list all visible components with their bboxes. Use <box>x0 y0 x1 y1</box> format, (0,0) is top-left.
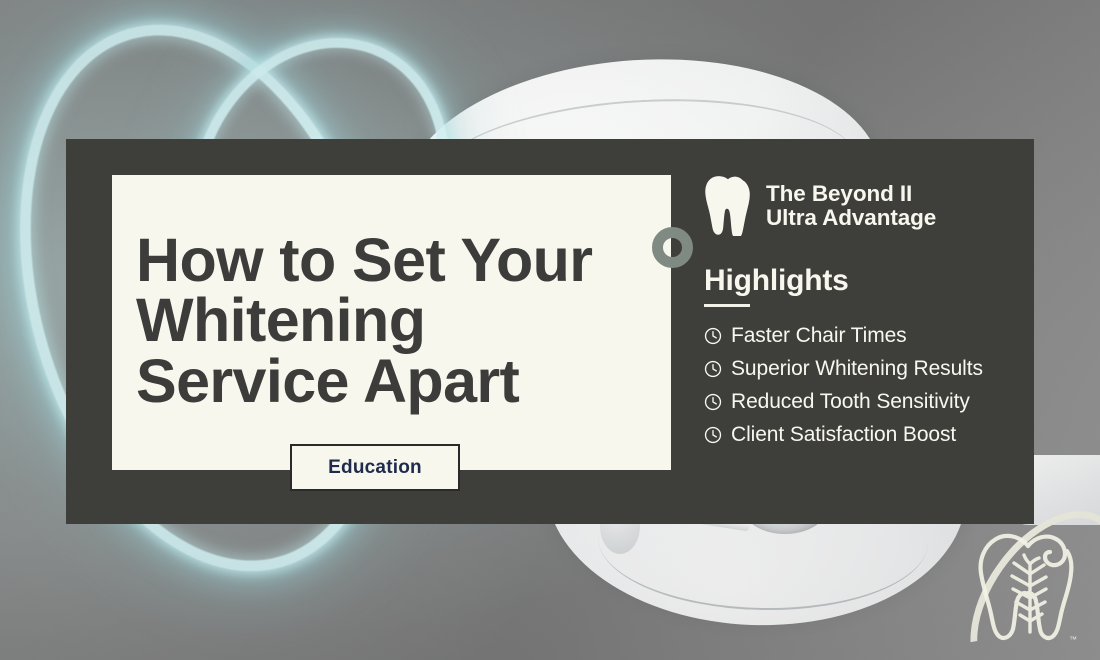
list-item-label: Superior Whitening Results <box>731 357 983 381</box>
highlights-heading: Highlights <box>704 264 1024 298</box>
clock-icon <box>704 393 722 411</box>
list-item: Superior Whitening Results <box>704 357 1024 381</box>
tooth-icon <box>704 176 752 236</box>
clock-icon <box>704 360 722 378</box>
title-line-1: How to Set Your <box>136 230 656 290</box>
trademark-symbol: ™ <box>1069 635 1077 644</box>
list-item-label: Faster Chair Times <box>731 324 907 348</box>
slide-canvas: How to Set Your Whitening Service Apart … <box>0 0 1100 660</box>
brand-lockup: The Beyond II Ultra Advantage <box>704 176 1024 236</box>
title-line-2: Whitening <box>136 290 656 350</box>
tooth-with-fern-outline-icon: ™ <box>970 530 1086 652</box>
highlights-column: The Beyond II Ultra Advantage Highlights… <box>704 176 1024 456</box>
list-item: Client Satisfaction Boost <box>704 423 1024 447</box>
clock-icon <box>704 426 722 444</box>
clock-icon <box>704 327 722 345</box>
list-item: Faster Chair Times <box>704 324 1024 348</box>
brand-line-2: Ultra Advantage <box>766 206 936 230</box>
ring-donut-icon <box>652 227 693 268</box>
category-badge-education[interactable]: Education <box>290 444 460 491</box>
brand-line-1: The Beyond II <box>766 182 936 206</box>
page-title: How to Set Your Whitening Service Apart <box>136 230 656 411</box>
list-item: Reduced Tooth Sensitivity <box>704 390 1024 414</box>
list-item-label: Client Satisfaction Boost <box>731 423 956 447</box>
category-badge-label: Education <box>328 457 422 479</box>
brand-name: The Beyond II Ultra Advantage <box>766 182 936 231</box>
title-line-3: Service Apart <box>136 351 656 411</box>
highlights-list: Faster Chair Times Superior Whitening Re… <box>704 324 1024 447</box>
list-item-label: Reduced Tooth Sensitivity <box>731 390 970 414</box>
highlights-heading-underline <box>704 304 750 307</box>
